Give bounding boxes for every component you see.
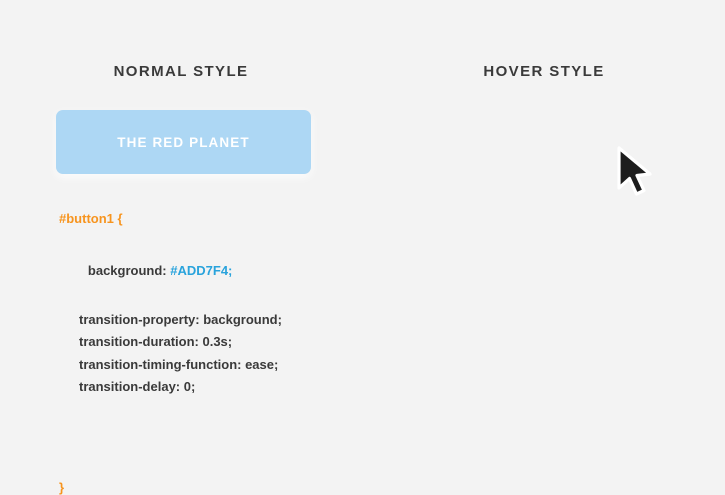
code-transition-property-list: transition-property: background; transit… bbox=[59, 312, 282, 395]
code-property-background-normal: background: bbox=[88, 263, 170, 278]
code-declaration-normal: background: #ADD7F4; bbox=[59, 251, 282, 290]
code-line-transition-delay: transition-delay: 0; bbox=[79, 379, 282, 395]
code-line-transition-timing-function: transition-timing-function: ease; bbox=[79, 357, 282, 373]
code-closing-brace-normal: } bbox=[59, 481, 282, 494]
code-selector-normal: #button1 { bbox=[59, 212, 282, 225]
normal-style-code-block: #button1 { background: #ADD7F4; transiti… bbox=[59, 212, 282, 494]
code-line-transition-property: transition-property: background; bbox=[79, 312, 282, 328]
code-value-background-normal: #ADD7F4; bbox=[170, 263, 232, 278]
hover-style-column: HOVER STYLE THE RED PLANET #button1:hove… bbox=[363, 0, 725, 450]
slide-canvas: NORMAL STYLE THE RED PLANET #button1 { b… bbox=[0, 0, 725, 450]
hover-style-heading: HOVER STYLE bbox=[363, 63, 725, 80]
normal-style-column: NORMAL STYLE THE RED PLANET #button1 { b… bbox=[0, 0, 362, 450]
normal-style-heading: NORMAL STYLE bbox=[0, 63, 362, 80]
code-line-transition-duration: transition-duration: 0.3s; bbox=[79, 334, 282, 350]
the-red-planet-button-normal[interactable]: THE RED PLANET bbox=[56, 110, 311, 174]
code-spacer-normal bbox=[59, 395, 282, 481]
